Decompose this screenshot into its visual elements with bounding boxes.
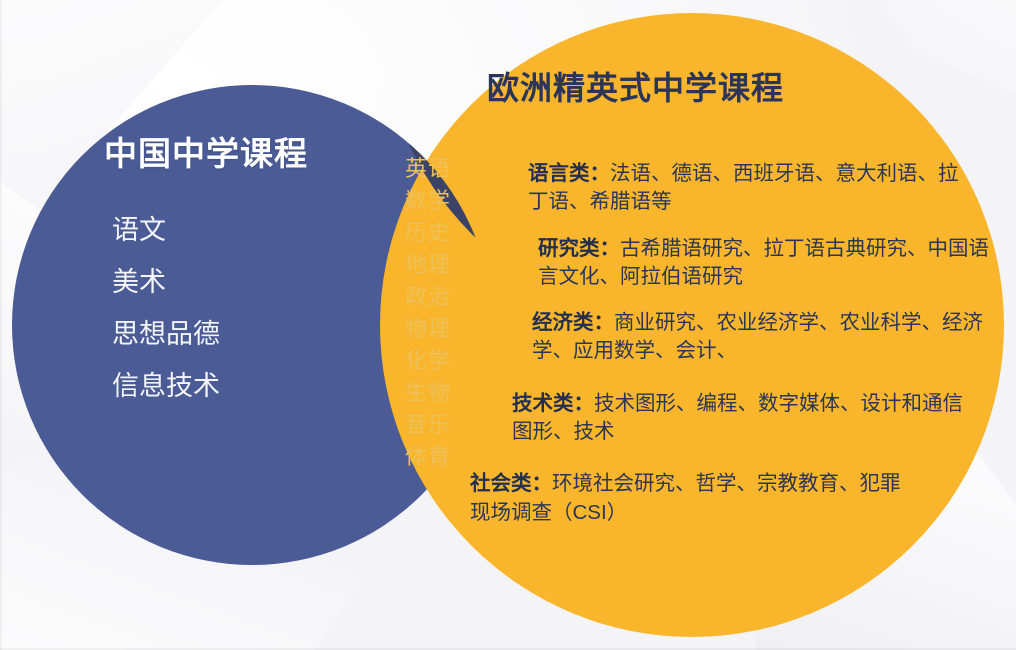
category-block-economics: 经济类：商业研究、农业经济学、农业科学、经济学、应用数学、会计、: [532, 309, 1002, 366]
category-label: 经济类：: [532, 311, 614, 334]
right-circle-content: 语言类：法语、德语、西班牙语、意大利语、拉丁语、希腊语等 研究类：古希腊语研究、…: [470, 160, 940, 543]
category-label: 语言类：: [528, 162, 610, 185]
list-item: 地理: [392, 254, 464, 276]
category-block-language: 语言类：法语、德语、西班牙语、意大利语、拉丁语、希腊语等: [528, 160, 968, 217]
list-item: 语文: [112, 217, 390, 244]
category-label: 研究类：: [538, 237, 620, 260]
left-circle-content: 中国中学课程 语文 美术 思想品德 信息技术: [60, 135, 390, 425]
list-item: 化学: [392, 350, 464, 372]
list-item: 历史: [392, 222, 464, 244]
category-block-research: 研究类：古希腊语研究、拉丁语古典研究、中国语言文化、阿拉伯语研究: [538, 235, 1008, 292]
right-circle-title: 欧洲精英式中学课程: [487, 71, 784, 106]
left-circle-subject-list: 语文 美术 思想品德 信息技术: [60, 217, 390, 400]
list-item: 数学: [392, 190, 464, 212]
category-block-technology: 技术类：技术图形、编程、数字媒体、设计和通信图形、技术: [512, 390, 982, 447]
slide-left-edge: [0, 0, 2, 650]
list-item: 英语: [392, 158, 464, 180]
category-label: 社会类：: [470, 472, 552, 495]
list-item: 美术: [112, 269, 390, 296]
venn-diagram-slide: 中国中学课程 语文 美术 思想品德 信息技术 英语 数学 历史 地理 政治 物理…: [0, 0, 1016, 650]
list-item: 生物: [392, 382, 464, 404]
list-item: 体育: [392, 446, 464, 468]
list-item: 音乐: [392, 414, 464, 436]
list-item: 信息技术: [112, 373, 390, 400]
left-circle-title: 中国中学课程: [104, 135, 390, 173]
list-item: 物理: [392, 318, 464, 340]
category-block-social: 社会类：环境社会研究、哲学、宗教教育、犯罪现场调查（CSI）: [470, 470, 920, 527]
list-item: 政治: [392, 286, 464, 308]
overlap-subject-list: 英语 数学 历史 地理 政治 物理 化学 生物 音乐 体育: [392, 158, 464, 478]
category-label: 技术类：: [512, 392, 594, 415]
list-item: 思想品德: [112, 321, 390, 348]
